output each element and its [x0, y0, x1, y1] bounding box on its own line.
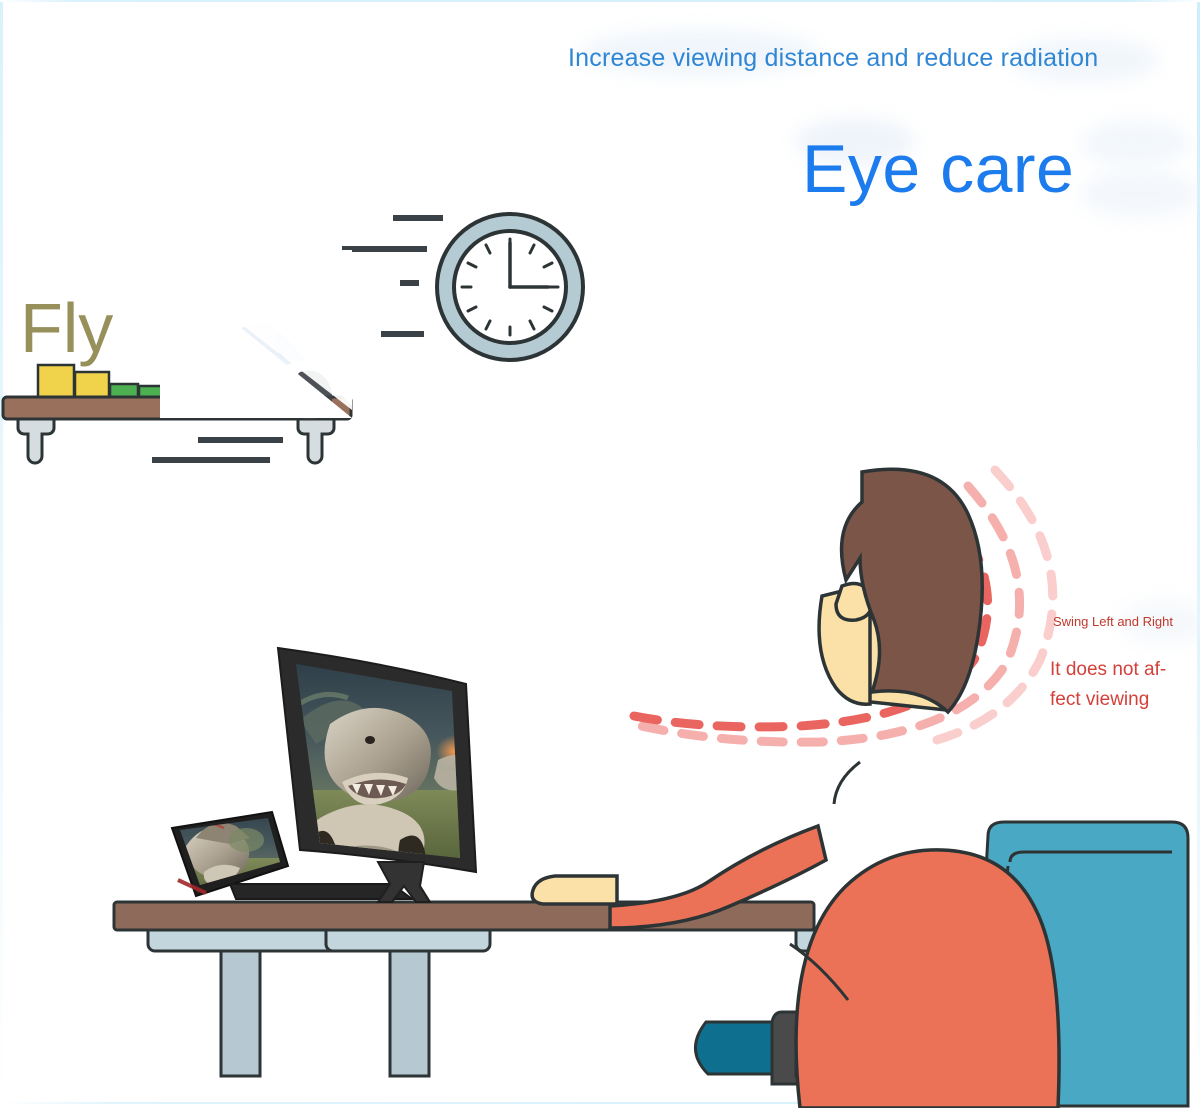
wall-clock-group — [342, 214, 583, 360]
viewing-annotation-line2: fect viewing — [1050, 685, 1185, 715]
desk-leg-right — [390, 951, 429, 1076]
viewing-annotation-line1: It does not af- — [1050, 655, 1185, 685]
illustration-canvas: Increase viewing distance and reduce rad… — [0, 0, 1200, 1108]
person-torso — [796, 850, 1059, 1108]
desk-leg-left — [221, 951, 260, 1076]
clock-speed-lines — [342, 218, 443, 334]
watermark-text: Fly — [20, 288, 113, 368]
tagline-text: Increase viewing distance and reduce rad… — [568, 44, 1098, 73]
seated-person-group — [532, 469, 1059, 1108]
swing-annotation-label: Swing Left and Right — [1053, 614, 1173, 629]
shelf-speed-lines — [152, 440, 283, 460]
person-hand — [532, 876, 617, 904]
page-title: Eye care — [802, 130, 1074, 208]
shelf-brackets — [18, 419, 334, 463]
desk-apron-left — [148, 930, 348, 951]
desk-apron-mid — [326, 930, 490, 951]
